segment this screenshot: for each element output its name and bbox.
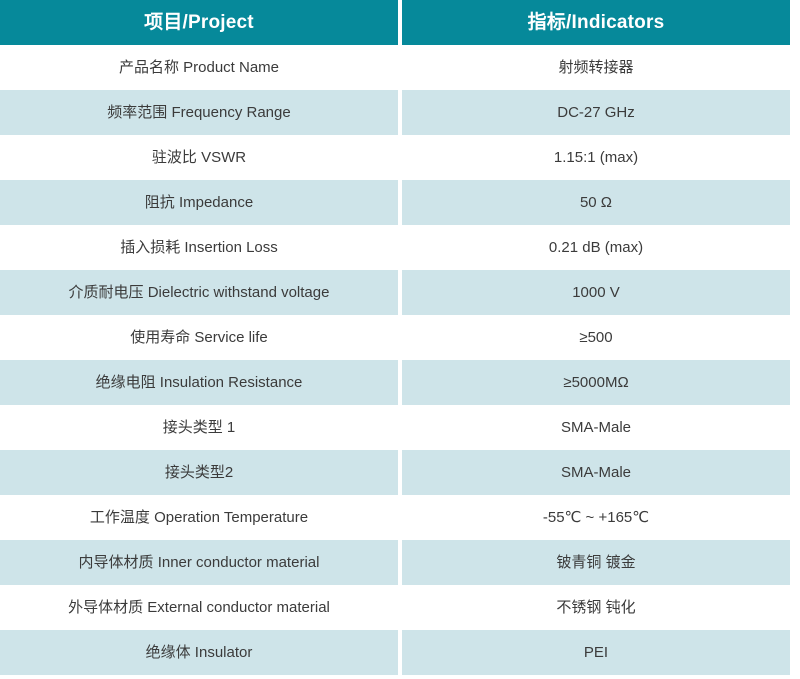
- table-row: 接头类型 1SMA-Male: [0, 405, 790, 450]
- table-row: 阻抗 Impedance50 Ω: [0, 180, 790, 225]
- cell-project: 接头类型 1: [0, 405, 398, 450]
- table-body: 产品名称 Product Name射频转接器频率范围 Frequency Ran…: [0, 45, 790, 675]
- table-row: 产品名称 Product Name射频转接器: [0, 45, 790, 90]
- cell-project: 工作温度 Operation Temperature: [0, 495, 398, 540]
- table-row: 绝缘电阻 Insulation Resistance≥5000MΩ: [0, 360, 790, 405]
- cell-indicator: 不锈钢 钝化: [402, 585, 790, 630]
- table-header: 项目/Project 指标/Indicators: [0, 0, 790, 45]
- cell-project: 阻抗 Impedance: [0, 180, 398, 225]
- cell-project: 接头类型2: [0, 450, 398, 495]
- cell-indicator: 50 Ω: [402, 180, 790, 225]
- header-row: 项目/Project 指标/Indicators: [0, 0, 790, 45]
- table-row: 绝缘体 InsulatorPEI: [0, 630, 790, 675]
- table-row: 插入损耗 Insertion Loss0.21 dB (max): [0, 225, 790, 270]
- table-row: 内导体材质 Inner conductor material铍青铜 镀金: [0, 540, 790, 585]
- column-header-project: 项目/Project: [0, 0, 398, 45]
- specification-table: 项目/Project 指标/Indicators 产品名称 Product Na…: [0, 0, 790, 675]
- cell-indicator: SMA-Male: [402, 450, 790, 495]
- cell-project: 绝缘体 Insulator: [0, 630, 398, 675]
- table-row: 频率范围 Frequency RangeDC-27 GHz: [0, 90, 790, 135]
- cell-project: 外导体材质 External conductor material: [0, 585, 398, 630]
- table-row: 驻波比 VSWR1.15:1 (max): [0, 135, 790, 180]
- cell-project: 介质耐电压 Dielectric withstand voltage: [0, 270, 398, 315]
- cell-project: 内导体材质 Inner conductor material: [0, 540, 398, 585]
- cell-indicator: SMA-Male: [402, 405, 790, 450]
- cell-indicator: PEI: [402, 630, 790, 675]
- cell-indicator: DC-27 GHz: [402, 90, 790, 135]
- cell-indicator: ≥500: [402, 315, 790, 360]
- cell-project: 产品名称 Product Name: [0, 45, 398, 90]
- cell-indicator: 1000 V: [402, 270, 790, 315]
- table-row: 使用寿命 Service life≥500: [0, 315, 790, 360]
- cell-project: 绝缘电阻 Insulation Resistance: [0, 360, 398, 405]
- column-header-indicators: 指标/Indicators: [402, 0, 790, 45]
- cell-project: 驻波比 VSWR: [0, 135, 398, 180]
- cell-indicator: 射频转接器: [402, 45, 790, 90]
- cell-project: 频率范围 Frequency Range: [0, 90, 398, 135]
- cell-indicator: -55℃ ~ +165℃: [402, 495, 790, 540]
- cell-indicator: 铍青铜 镀金: [402, 540, 790, 585]
- cell-indicator: ≥5000MΩ: [402, 360, 790, 405]
- table-row: 工作温度 Operation Temperature-55℃ ~ +165℃: [0, 495, 790, 540]
- table-row: 外导体材质 External conductor material不锈钢 钝化: [0, 585, 790, 630]
- cell-indicator: 1.15:1 (max): [402, 135, 790, 180]
- table-row: 接头类型2SMA-Male: [0, 450, 790, 495]
- cell-indicator: 0.21 dB (max): [402, 225, 790, 270]
- cell-project: 插入损耗 Insertion Loss: [0, 225, 398, 270]
- table-row: 介质耐电压 Dielectric withstand voltage1000 V: [0, 270, 790, 315]
- cell-project: 使用寿命 Service life: [0, 315, 398, 360]
